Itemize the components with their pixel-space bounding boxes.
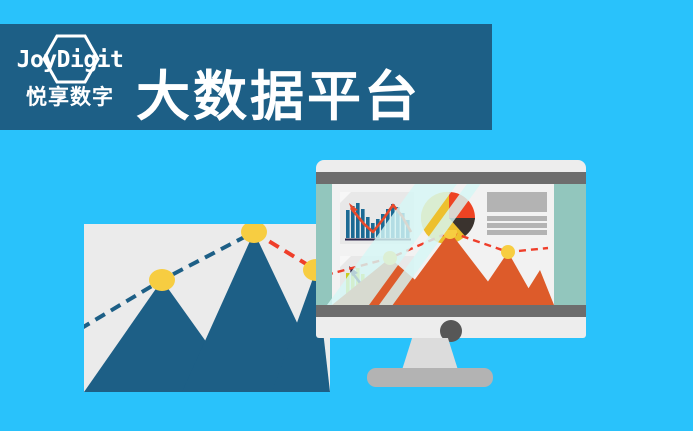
desktop-monitor: [316, 160, 586, 338]
document-thumbnail: [487, 192, 547, 212]
header-banner: JoyDigit 悦享数字 大数据平台: [0, 24, 492, 130]
monitor-top-bezel-bar: [316, 172, 586, 184]
document-block[interactable]: [487, 192, 547, 234]
page-title: 大数据平台: [136, 70, 421, 124]
brand-logo[interactable]: JoyDigit 悦享数字: [14, 32, 126, 122]
logo-subtitle: 悦享数字: [14, 87, 126, 108]
monitor-bottom-bezel-bar: [316, 305, 586, 317]
monitor-stand-base: [367, 368, 493, 387]
screenshot-canvas: JoyDigit 悦享数字 大数据平台: [0, 0, 693, 431]
document-line: [487, 223, 547, 228]
monitor-screen[interactable]: [316, 184, 586, 305]
document-line: [487, 216, 547, 221]
logo-wordmark: JoyDigit: [14, 49, 126, 72]
monitor-stand-neck: [402, 338, 458, 370]
mountain-trend-panel: [84, 224, 330, 392]
